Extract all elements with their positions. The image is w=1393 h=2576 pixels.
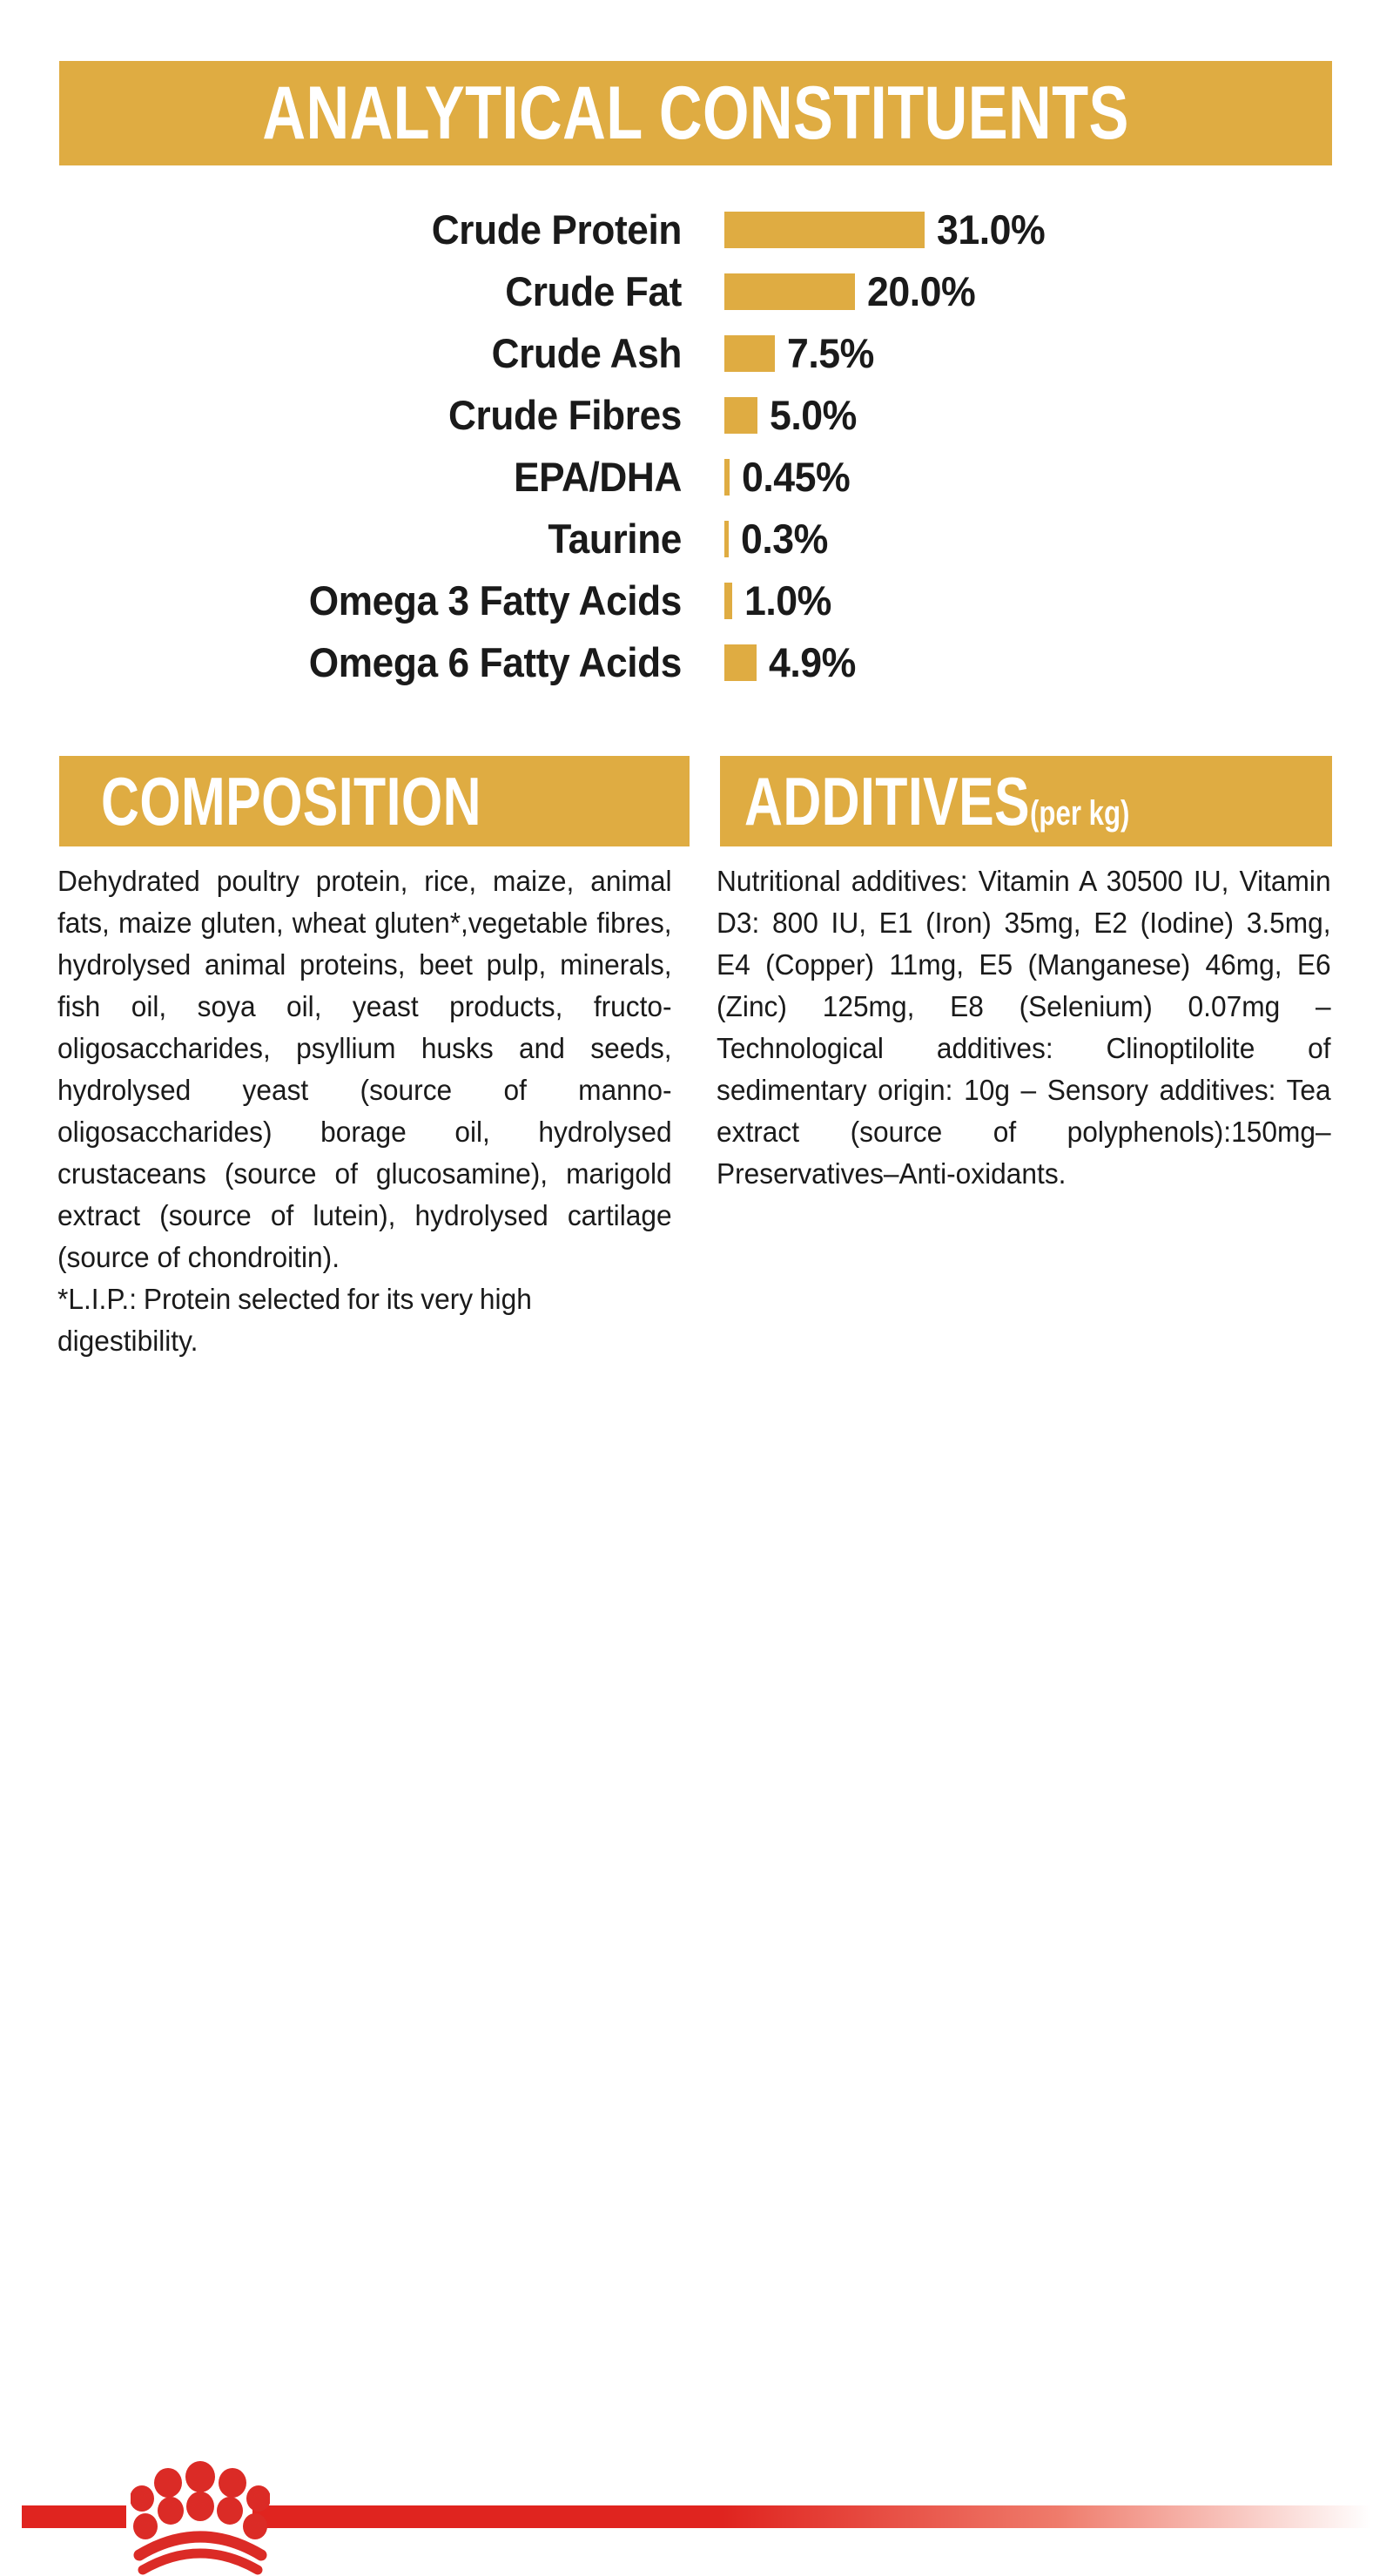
constituent-value: 20.0%	[867, 267, 975, 315]
additives-title-suffix: (per kg)	[1030, 794, 1129, 833]
constituent-value: 0.45%	[742, 453, 850, 501]
constituent-value: 7.5%	[787, 329, 874, 377]
constituent-label: Crude Fat	[41, 267, 682, 315]
constituent-label: EPA/DHA	[41, 453, 682, 501]
additives-body: Nutritional additives: Vitamin A 30500 I…	[717, 860, 1331, 1195]
constituent-bar-cell: 5.0%	[724, 391, 861, 439]
constituent-bar	[724, 583, 732, 619]
constituent-label: Crude Ash	[41, 329, 682, 377]
additives-list-text: Nutritional additives: Vitamin A 30500 I…	[717, 865, 1331, 1190]
composition-ingredients-text: Dehydrated poultry protein, rice, maize,…	[57, 865, 672, 1273]
constituent-bar-cell: 0.3%	[724, 515, 832, 563]
footer-rule-left	[22, 2505, 126, 2528]
constituent-bar	[724, 335, 775, 372]
additives-title-main: ADDITIVES	[744, 763, 1030, 840]
constituent-value: 1.0%	[744, 577, 831, 624]
constituent-row: Crude Protein31.0%	[0, 199, 1393, 260]
constituent-row: Crude Ash7.5%	[0, 322, 1393, 384]
constituent-label: Crude Protein	[41, 206, 682, 253]
composition-title: COMPOSITION	[101, 767, 481, 835]
additives-title: ADDITIVES(per kg)	[744, 767, 1129, 835]
constituent-value: 31.0%	[937, 206, 1045, 253]
constituent-label: Taurine	[41, 515, 682, 563]
constituent-label: Crude Fibres	[41, 391, 682, 439]
analytical-constituents-chart: Crude Protein31.0%Crude Fat20.0%Crude As…	[0, 199, 1393, 693]
analytical-constituents-header-band: ANALYTICAL CONSTITUENTS	[59, 61, 1332, 165]
constituent-row: Crude Fibres5.0%	[0, 384, 1393, 446]
constituent-row: Crude Fat20.0%	[0, 260, 1393, 322]
constituent-bar-cell: 7.5%	[724, 329, 878, 377]
royal-canin-crown-logo	[131, 2454, 270, 2576]
constituent-value: 4.9%	[769, 638, 856, 686]
constituent-bar	[724, 397, 757, 434]
constituent-bar-cell: 1.0%	[724, 577, 836, 624]
footer	[0, 1219, 1393, 1393]
constituent-bar	[724, 459, 730, 496]
constituent-value: 0.3%	[741, 515, 828, 563]
constituent-row: Omega 6 Fatty Acids4.9%	[0, 631, 1393, 693]
additives-header-band: ADDITIVES(per kg)	[720, 756, 1332, 846]
constituent-label: Omega 3 Fatty Acids	[41, 577, 682, 624]
constituent-bar-cell: 20.0%	[724, 267, 981, 315]
constituent-bar	[724, 273, 855, 310]
footer-rule-right	[252, 2505, 1371, 2528]
constituent-bar	[724, 644, 757, 681]
constituent-row: EPA/DHA0.45%	[0, 446, 1393, 508]
constituent-row: Taurine0.3%	[0, 508, 1393, 570]
constituent-bar	[724, 212, 925, 248]
constituent-bar	[724, 521, 729, 557]
constituent-label: Omega 6 Fatty Acids	[41, 638, 682, 686]
constituent-bar-cell: 31.0%	[724, 206, 1051, 253]
constituent-bar-cell: 4.9%	[724, 638, 860, 686]
analytical-constituents-title: ANALYTICAL CONSTITUENTS	[262, 76, 1128, 151]
constituent-bar-cell: 0.45%	[724, 453, 856, 501]
composition-header-band: COMPOSITION	[59, 756, 690, 846]
constituent-value: 5.0%	[770, 391, 857, 439]
constituent-row: Omega 3 Fatty Acids1.0%	[0, 570, 1393, 631]
